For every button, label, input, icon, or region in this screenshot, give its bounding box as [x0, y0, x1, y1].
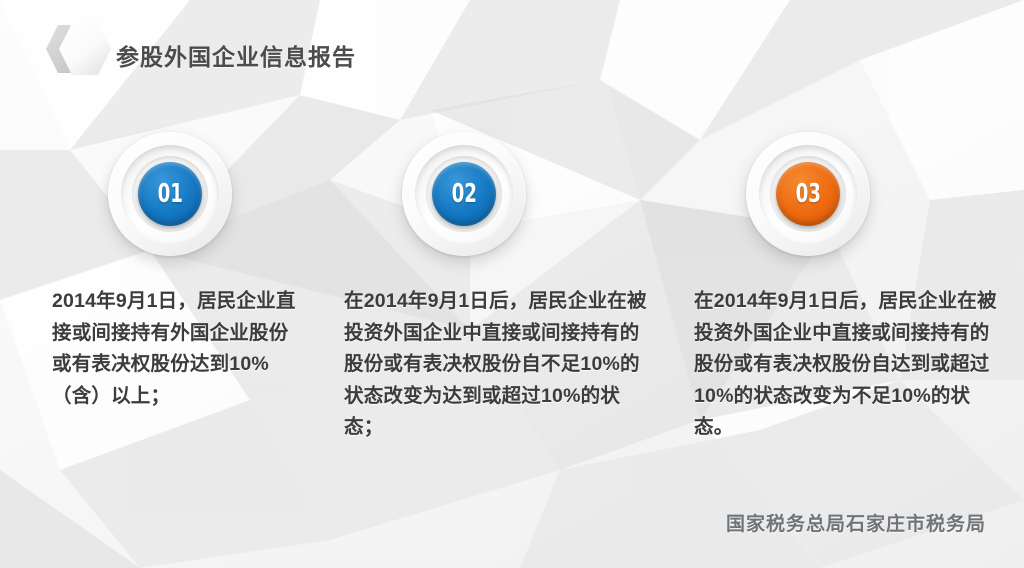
- slide-canvas: 参股外国企业信息报告 01 2014年9月1日，居民企业直接或间接持有外国企业股…: [0, 0, 1024, 568]
- content-column-02: 02 在2014年9月1日后，居民企业在被投资外国企业中直接或间接持有的股份或有…: [334, 132, 634, 444]
- column-body-text: 在2014年9月1日后，居民企业在被投资外国企业中直接或间接持有的股份或有表决权…: [694, 286, 1000, 444]
- content-column-03: 03 在2014年9月1日后，居民企业在被投资外国企业中直接或间接持有的股份或有…: [684, 132, 984, 444]
- content-columns: 01 2014年9月1日，居民企业直接或间接持有外国企业股份或有表决权股份达到1…: [0, 132, 1024, 462]
- badge-disc: 01: [138, 162, 202, 226]
- badge-number: 03: [795, 181, 820, 207]
- column-body-text: 在2014年9月1日后，居民企业在被投资外国企业中直接或间接持有的股份或有表决权…: [344, 286, 650, 444]
- footer-organization: 国家税务总局石家庄市税务局: [726, 509, 986, 536]
- content-column-01: 01 2014年9月1日，居民企业直接或间接持有外国企业股份或有表决权股份达到1…: [40, 132, 340, 412]
- step-badge-02[interactable]: 02: [402, 132, 526, 256]
- slide-header: 参股外国企业信息报告: [0, 0, 1024, 96]
- badge-number: 01: [157, 181, 182, 207]
- step-badge-03[interactable]: 03: [746, 132, 870, 256]
- page-title: 参股外国企业信息报告: [116, 38, 356, 72]
- hexagon-logo-icon: [38, 22, 126, 78]
- column-body-text: 2014年9月1日，居民企业直接或间接持有外国企业股份或有表决权股份达到10%（…: [52, 286, 308, 412]
- badge-number: 02: [451, 181, 476, 207]
- badge-disc: 02: [432, 162, 496, 226]
- step-badge-01[interactable]: 01: [108, 132, 232, 256]
- badge-disc: 03: [776, 162, 840, 226]
